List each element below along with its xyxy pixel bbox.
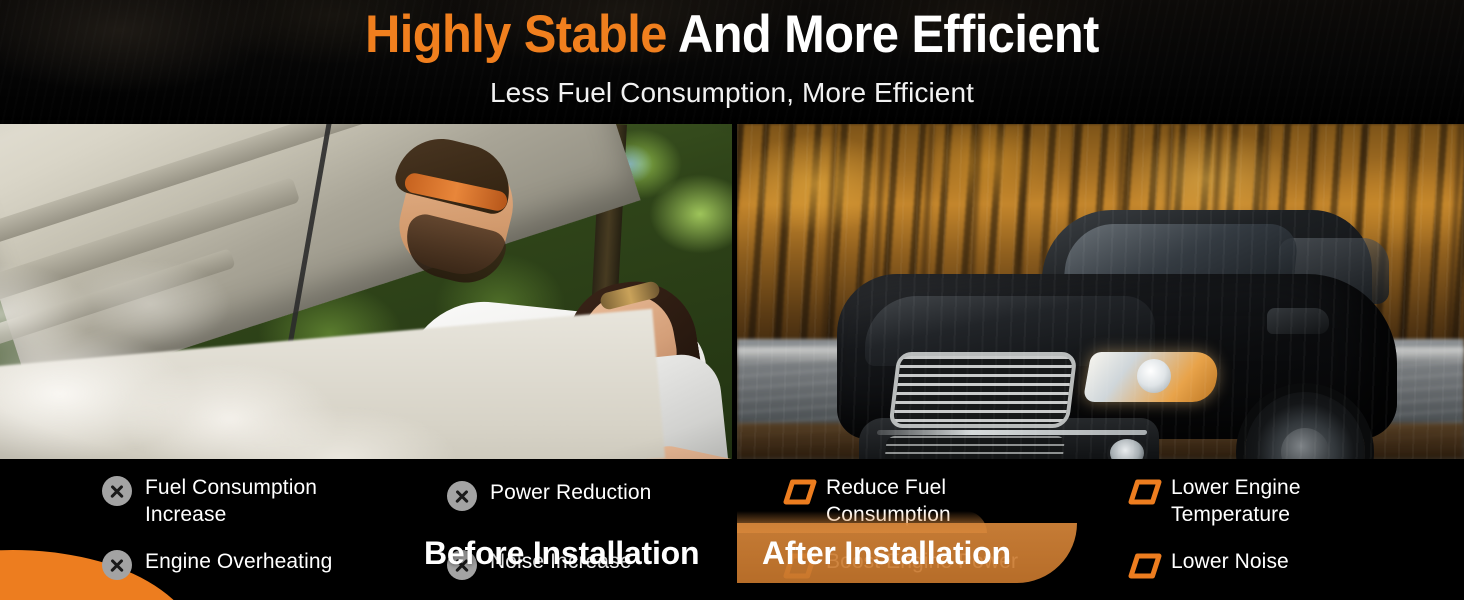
feature-label: Lower Noise bbox=[1171, 548, 1289, 575]
circle-x-icon bbox=[102, 476, 132, 506]
feature-item-positive: Lower Noise bbox=[1128, 548, 1289, 580]
before-installation-label: Before Installation bbox=[424, 534, 699, 572]
circle-x-icon bbox=[447, 481, 477, 511]
orange-rhombus-icon bbox=[1128, 476, 1158, 506]
feature-item-positive: Lower Engine Temperature bbox=[1128, 474, 1401, 528]
feature-label: Engine Overheating bbox=[145, 548, 332, 575]
features-grid: Fuel Consumption Increase Power Reductio… bbox=[0, 0, 1464, 600]
feature-item-negative: Fuel Consumption Increase bbox=[102, 474, 375, 528]
orange-rhombus-icon bbox=[783, 476, 813, 506]
feature-item-negative: Power Reduction bbox=[447, 479, 651, 511]
orange-rhombus-icon bbox=[1128, 550, 1158, 580]
feature-label: Power Reduction bbox=[490, 479, 651, 506]
feature-label: Fuel Consumption Increase bbox=[145, 474, 375, 528]
after-installation-label: After Installation bbox=[762, 534, 1011, 572]
promo-banner: Highly Stable And More Efficient Less Fu… bbox=[0, 0, 1464, 600]
feature-item-negative: Engine Overheating bbox=[102, 548, 332, 580]
circle-x-icon bbox=[102, 550, 132, 580]
feature-label: Lower Engine Temperature bbox=[1171, 474, 1401, 528]
